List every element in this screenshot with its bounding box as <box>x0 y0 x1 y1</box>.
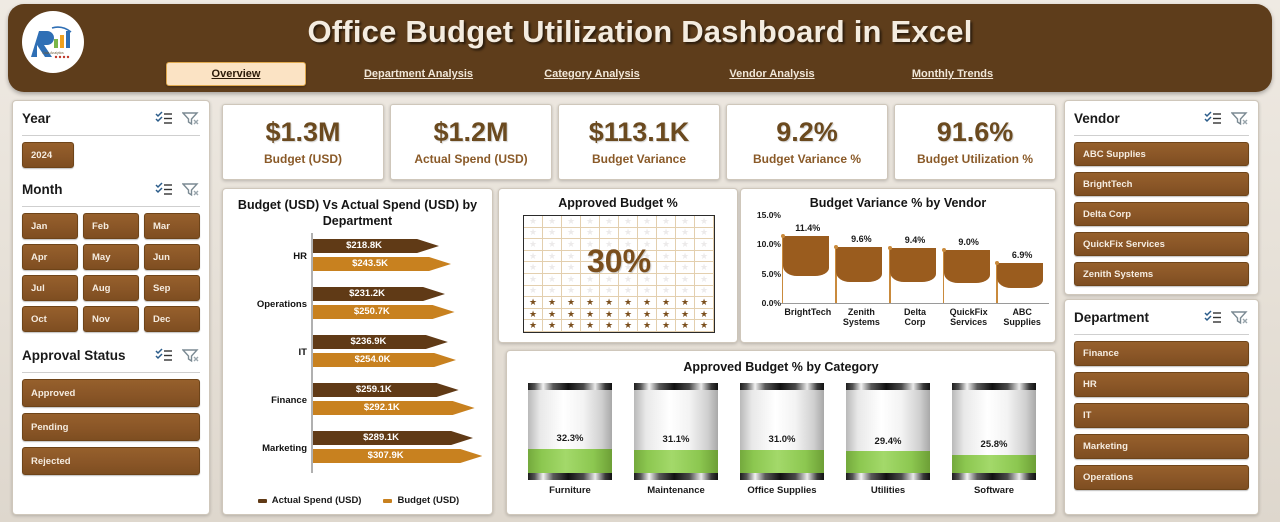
legend-label: Budget (USD) <box>397 495 459 506</box>
waffle-cell-empty: ★ <box>543 216 562 228</box>
department-axis-label: HR <box>223 251 307 262</box>
kpi-value: 91.6% <box>937 118 1014 146</box>
left-slicer-panel: Year <box>12 100 210 515</box>
vendor-variance-chart: Budget Variance % by Vendor 11.4%9.6%9.4… <box>740 188 1056 343</box>
waffle-grid: ★★★★★★★★★★★★★★★★★★★★★★★★★★★★★★★★★★★★★★★★… <box>523 215 715 333</box>
category-cylinder: 31.0% <box>740 383 824 480</box>
category-cylinder-cap-top <box>846 383 930 390</box>
slicer-approval-status-title: Approval Status <box>22 348 126 363</box>
slicer-item-vendor-zenith-systems[interactable]: Zenith Systems <box>1074 262 1249 286</box>
slicer-item-month-dec[interactable]: Dec <box>144 306 200 332</box>
kpi-card-actual-spend: $1.2M Actual Spend (USD) <box>390 104 552 180</box>
slicer-item-month-mar[interactable]: Mar <box>144 213 200 239</box>
kpi-card-budget-variance-pct: 9.2% Budget Variance % <box>726 104 888 180</box>
tab-category-analysis[interactable]: Category Analysis <box>533 62 651 86</box>
waffle-cell-empty: ★ <box>695 251 714 263</box>
slicer-divider <box>1074 334 1249 335</box>
waffle-cell-empty: ★ <box>638 286 657 298</box>
kpi-label: Actual Spend (USD) <box>414 152 527 166</box>
vendor-flag-shape <box>890 248 936 282</box>
category-x-tick-label: Furniture <box>549 485 591 496</box>
waffle-cell-empty: ★ <box>657 228 676 240</box>
vendor-bar <box>889 215 941 303</box>
slicer-vendor: Vendor <box>1064 100 1259 295</box>
clear-filter-icon[interactable] <box>182 182 200 202</box>
waffle-cell-empty: ★ <box>524 239 543 251</box>
vendor-flag-knob-icon <box>888 246 892 250</box>
tab-department-analysis[interactable]: Department Analysis <box>356 62 481 86</box>
category-cylinder: 25.8% <box>952 383 1036 480</box>
category-bar: 25.8%Software <box>941 383 1047 508</box>
waffle-cell-filled: ★ <box>581 297 600 309</box>
category-bar-value: 32.3% <box>528 433 612 444</box>
vendor-bar-value: 6.9% <box>996 250 1048 260</box>
department-bar-value: $231.2K <box>311 288 423 299</box>
waffle-cell-filled: ★ <box>619 297 638 309</box>
category-bar: 29.4%Utilities <box>835 383 941 508</box>
vendor-bar-value: 9.4% <box>889 235 941 245</box>
department-axis-label: IT <box>223 347 307 358</box>
waffle-cell-empty: ★ <box>657 262 676 274</box>
waffle-cell-filled: ★ <box>695 320 714 332</box>
vendor-bar-value: 9.6% <box>835 234 887 244</box>
waffle-cell-empty: ★ <box>676 239 695 251</box>
waffle-cell-filled: ★ <box>524 309 543 321</box>
vendor-bar <box>943 215 995 303</box>
vendor-bar-value: 11.4% <box>782 223 834 233</box>
department-bar-value: $218.8K <box>311 240 417 251</box>
slicer-item-department-operations[interactable]: Operations <box>1074 465 1249 490</box>
category-approved-budget: Approved Budget % by Category 32.3%Furni… <box>506 350 1056 515</box>
slicer-approval-status: Approval Status <box>13 332 209 475</box>
waffle-cell-empty: ★ <box>695 239 714 251</box>
category-x-tick-label: Office Supplies <box>747 485 816 496</box>
department-bar-chart: Budget (USD) Vs Actual Spend (USD) by De… <box>222 188 493 515</box>
chart-legend: Actual Spend (USD) Budget (USD) <box>223 495 494 506</box>
waffle-cell-filled: ★ <box>619 309 638 321</box>
department-bar-value: $259.1K <box>311 384 437 395</box>
department-chart-plot: HR$218.8K$243.5KOperations$231.2K$250.7K… <box>223 233 494 473</box>
category-bar: 32.3%Furniture <box>517 383 623 508</box>
slicer-item-month-may[interactable]: May <box>83 244 139 270</box>
chart-title: Approved Budget % <box>499 189 737 212</box>
main-navigation: Overview Department Analysis Category An… <box>148 62 1108 86</box>
slicer-item-month-apr[interactable]: Apr <box>22 244 78 270</box>
slicer-item-month-jun[interactable]: Jun <box>144 244 200 270</box>
waffle-cell-empty: ★ <box>562 251 581 263</box>
waffle-cell-empty: ★ <box>543 251 562 263</box>
chart-title: Budget (USD) Vs Actual Spend (USD) by De… <box>223 189 492 229</box>
category-x-tick-label: Utilities <box>871 485 905 496</box>
waffle-cell-empty: ★ <box>581 274 600 286</box>
tab-overview[interactable]: Overview <box>166 62 306 86</box>
slicer-item-month-aug[interactable]: Aug <box>83 275 139 301</box>
kpi-label: Budget Utilization % <box>917 152 1033 166</box>
category-cylinder-cap-top <box>952 383 1036 390</box>
clear-filter-icon[interactable] <box>1231 111 1249 131</box>
waffle-cell-filled: ★ <box>676 297 695 309</box>
slicer-item-vendor-brighttech[interactable]: BrightTech <box>1074 172 1249 196</box>
waffle-cell-empty: ★ <box>600 262 619 274</box>
slicer-vendor-title: Vendor <box>1074 111 1120 126</box>
waffle-cell-empty: ★ <box>657 274 676 286</box>
dashboard-root: Data Analytics Office Budget Utilization… <box>0 0 1280 522</box>
waffle-cell-filled: ★ <box>543 320 562 332</box>
kpi-value: $1.3M <box>265 118 340 146</box>
waffle-cell-empty: ★ <box>657 216 676 228</box>
waffle-cell-empty: ★ <box>638 251 657 263</box>
vendor-flag-shape <box>997 263 1043 288</box>
slicer-item-month-jul[interactable]: Jul <box>22 275 78 301</box>
slicer-department-items: Finance HR IT Marketing Operations <box>1065 341 1258 490</box>
slicer-item-month-sep[interactable]: Sep <box>144 275 200 301</box>
vendor-chart-plot: 11.4%9.6%9.4%9.0%6.9% <box>781 215 1049 303</box>
waffle-cell-empty: ★ <box>524 228 543 240</box>
waffle-cell-empty: ★ <box>619 228 638 240</box>
waffle-cell-empty: ★ <box>581 228 600 240</box>
slicer-divider <box>22 206 200 207</box>
waffle-cell-empty: ★ <box>524 274 543 286</box>
waffle-cell-empty: ★ <box>562 228 581 240</box>
slicer-department-title: Department <box>1074 310 1149 325</box>
waffle-cell-filled: ★ <box>657 320 676 332</box>
vendor-y-tick-label: 10.0% <box>743 239 781 249</box>
slicer-item-department-it[interactable]: IT <box>1074 403 1249 428</box>
vendor-x-tick-label: ABCSupplies <box>994 307 1050 328</box>
waffle-cell-empty: ★ <box>524 286 543 298</box>
department-bar-value: $292.1K <box>311 402 453 413</box>
clear-filter-icon[interactable] <box>1231 310 1249 330</box>
waffle-cell-empty: ★ <box>676 216 695 228</box>
vendor-flag-shape <box>836 247 882 282</box>
slicer-divider <box>22 372 200 373</box>
slicer-vendor-items: ABC Supplies BrightTech Delta Corp Quick… <box>1065 142 1258 286</box>
vendor-y-tick-label: 15.0% <box>743 210 781 220</box>
waffle-cell-empty: ★ <box>657 251 676 263</box>
category-bar-value: 31.1% <box>634 434 718 445</box>
waffle-cell-filled: ★ <box>562 320 581 332</box>
vendor-flag-knob-icon <box>995 261 999 265</box>
department-bar-value: $236.9K <box>311 336 426 347</box>
slicer-divider <box>22 135 200 136</box>
slicer-month-title: Month <box>22 182 62 197</box>
clear-filter-icon[interactable] <box>182 348 200 368</box>
tab-vendor-analysis[interactable]: Vendor Analysis <box>718 62 826 86</box>
kpi-label: Budget Variance <box>592 152 686 166</box>
chart-title: Budget Variance % by Vendor <box>741 189 1055 212</box>
waffle-cell-filled: ★ <box>676 309 695 321</box>
waffle-cell-empty: ★ <box>600 251 619 263</box>
waffle-cell-empty: ★ <box>524 251 543 263</box>
waffle-cell-empty: ★ <box>619 251 638 263</box>
clear-filter-icon[interactable] <box>182 111 200 131</box>
category-bar-value: 31.0% <box>740 434 824 445</box>
waffle-cell-filled: ★ <box>600 320 619 332</box>
waffle-cell-filled: ★ <box>695 297 714 309</box>
slicer-item-vendor-delta-corp[interactable]: Delta Corp <box>1074 202 1249 226</box>
waffle-cell-empty: ★ <box>600 286 619 298</box>
waffle-cell-empty: ★ <box>543 262 562 274</box>
waffle-cell-empty: ★ <box>619 274 638 286</box>
waffle-cell-empty: ★ <box>695 262 714 274</box>
vendor-x-tick-label: ZenithSystems <box>833 307 889 328</box>
waffle-cell-empty: ★ <box>600 228 619 240</box>
department-bar-value: $254.0K <box>311 354 434 365</box>
slicer-item-status-approved[interactable]: Approved <box>22 379 200 407</box>
slicer-item-status-pending[interactable]: Pending <box>22 413 200 441</box>
waffle-cell-empty: ★ <box>619 239 638 251</box>
slicer-item-vendor-quickfix-services[interactable]: QuickFix Services <box>1074 232 1249 256</box>
waffle-cell-filled: ★ <box>524 320 543 332</box>
waffle-cell-empty: ★ <box>581 251 600 263</box>
category-bar-value: 25.8% <box>952 439 1036 450</box>
waffle-cell-filled: ★ <box>581 320 600 332</box>
waffle-cell-empty: ★ <box>581 216 600 228</box>
waffle-cell-filled: ★ <box>600 297 619 309</box>
department-axis-label: Operations <box>223 299 307 310</box>
waffle-cell-empty: ★ <box>581 239 600 251</box>
waffle-cell-empty: ★ <box>562 216 581 228</box>
slicer-department: Department <box>1064 299 1259 515</box>
slicer-item-department-marketing[interactable]: Marketing <box>1074 434 1249 459</box>
slicer-item-month-feb[interactable]: Feb <box>83 213 139 239</box>
vendor-flag-knob-icon <box>781 234 785 238</box>
vendor-flag-shape <box>944 250 990 283</box>
page-title: Office Budget Utilization Dashboard in E… <box>8 14 1272 50</box>
waffle-cell-empty: ★ <box>695 286 714 298</box>
waffle-cell-empty: ★ <box>619 286 638 298</box>
slicer-item-month-jan[interactable]: Jan <box>22 213 78 239</box>
vendor-bar-value: 9.0% <box>943 237 995 247</box>
legend-label: Actual Spend (USD) <box>272 495 362 506</box>
waffle-cell-empty: ★ <box>676 274 695 286</box>
slicer-item-year-2024[interactable]: 2024 <box>22 142 74 168</box>
waffle-cell-filled: ★ <box>638 320 657 332</box>
slicer-year: Year <box>13 101 209 168</box>
waffle-cell-filled: ★ <box>562 297 581 309</box>
slicer-month-items: Jan Feb Mar Apr May Jun Jul Aug Sep Oct … <box>13 213 209 332</box>
legend-swatch-icon <box>383 499 392 503</box>
waffle-cell-empty: ★ <box>562 274 581 286</box>
chart-title: Approved Budget % by Category <box>507 351 1055 376</box>
waffle-cell-empty: ★ <box>657 286 676 298</box>
slicer-item-vendor-abc-supplies[interactable]: ABC Supplies <box>1074 142 1249 166</box>
approved-budget-waffle: Approved Budget % ★★★★★★★★★★★★★★★★★★★★★★… <box>498 188 738 343</box>
department-bar-value: $307.9K <box>311 450 460 461</box>
slicer-year-title: Year <box>22 111 51 126</box>
category-cylinder: 32.3% <box>528 383 612 480</box>
department-value-axis <box>311 233 313 473</box>
slicer-item-month-oct[interactable]: Oct <box>22 306 78 332</box>
waffle-cell-empty: ★ <box>676 228 695 240</box>
waffle-cell-filled: ★ <box>619 320 638 332</box>
department-bar-value: $243.5K <box>311 258 429 269</box>
waffle-cell-empty: ★ <box>543 228 562 240</box>
kpi-card-budget-utilization-pct: 91.6% Budget Utilization % <box>894 104 1056 180</box>
waffle-cell-empty: ★ <box>600 239 619 251</box>
kpi-value: $1.2M <box>433 118 508 146</box>
slicer-divider <box>1074 135 1249 136</box>
waffle-cell-filled: ★ <box>638 297 657 309</box>
waffle-cell-empty: ★ <box>638 262 657 274</box>
waffle-cell-empty: ★ <box>657 239 676 251</box>
slicer-approval-status-items: Approved Pending Rejected <box>13 379 209 475</box>
waffle-cell-empty: ★ <box>543 286 562 298</box>
waffle-cell-empty: ★ <box>562 286 581 298</box>
waffle-cell-filled: ★ <box>638 309 657 321</box>
svg-text:Data Analytics: Data Analytics <box>42 51 64 55</box>
category-cylinder: 31.1% <box>634 383 718 480</box>
vendor-bar <box>835 215 887 303</box>
waffle-cell-empty: ★ <box>638 274 657 286</box>
tab-monthly-trends[interactable]: Monthly Trends <box>900 62 1005 86</box>
kpi-card-budget: $1.3M Budget (USD) <box>222 104 384 180</box>
waffle-cell-filled: ★ <box>562 309 581 321</box>
category-cylinder-cap-top <box>528 383 612 390</box>
waffle-cell-empty: ★ <box>676 251 695 263</box>
waffle-cell-filled: ★ <box>524 297 543 309</box>
category-chart-plot: 32.3%Furniture31.1%Maintenance31.0%Offic… <box>517 383 1047 508</box>
waffle-cell-empty: ★ <box>524 262 543 274</box>
vendor-flag-knob-icon <box>942 248 946 252</box>
slicer-item-status-rejected[interactable]: Rejected <box>22 447 200 475</box>
category-x-tick-label: Software <box>974 485 1014 496</box>
waffle-cell-empty: ★ <box>695 216 714 228</box>
waffle-cell-filled: ★ <box>657 309 676 321</box>
waffle-cell-empty: ★ <box>600 274 619 286</box>
kpi-label: Budget Variance % <box>753 152 861 166</box>
category-cylinder-cap-top <box>634 383 718 390</box>
waffle-cell-empty: ★ <box>676 286 695 298</box>
waffle-cell-filled: ★ <box>600 309 619 321</box>
kpi-card-budget-variance: $113.1K Budget Variance <box>558 104 720 180</box>
vendor-axis-line <box>781 303 1049 304</box>
multi-select-icon[interactable] <box>1204 111 1222 131</box>
waffle-cell-empty: ★ <box>638 216 657 228</box>
department-axis-label: Finance <box>223 395 307 406</box>
kpi-value: 9.2% <box>776 118 838 146</box>
slicer-item-department-hr[interactable]: HR <box>1074 372 1249 397</box>
waffle-cell-empty: ★ <box>581 262 600 274</box>
category-cylinder-cap-bottom <box>634 473 718 480</box>
kpi-label: Budget (USD) <box>264 152 342 166</box>
dashboard-header: Data Analytics Office Budget Utilization… <box>8 4 1272 92</box>
department-bar-value: $289.1K <box>311 432 451 443</box>
waffle-cell-filled: ★ <box>543 309 562 321</box>
multi-select-icon[interactable] <box>155 348 173 368</box>
category-bar: 31.1%Maintenance <box>623 383 729 508</box>
waffle-cell-filled: ★ <box>543 297 562 309</box>
category-bar-value: 29.4% <box>846 436 930 447</box>
category-cylinder-cap-top <box>740 383 824 390</box>
vendor-x-tick-label: DeltaCorp <box>887 307 943 328</box>
waffle-cell-empty: ★ <box>619 262 638 274</box>
multi-select-icon[interactable] <box>1204 310 1222 330</box>
department-bar-value: $250.7K <box>311 306 433 317</box>
category-cylinder-cap-bottom <box>952 473 1036 480</box>
category-cylinder-cap-bottom <box>528 473 612 480</box>
category-cylinder-cap-bottom <box>740 473 824 480</box>
vendor-y-tick-label: 0.0% <box>743 298 781 308</box>
department-axis-label: Marketing <box>223 443 307 454</box>
waffle-cell-filled: ★ <box>581 309 600 321</box>
waffle-cell-empty: ★ <box>562 262 581 274</box>
waffle-cell-empty: ★ <box>638 239 657 251</box>
category-cylinder: 29.4% <box>846 383 930 480</box>
slicer-item-month-nov[interactable]: Nov <box>83 306 139 332</box>
waffle-cell-empty: ★ <box>562 239 581 251</box>
waffle-cell-empty: ★ <box>600 216 619 228</box>
vendor-x-tick-label: BrightTech <box>780 307 836 317</box>
vendor-flag-shape <box>783 236 829 276</box>
waffle-cell-empty: ★ <box>695 228 714 240</box>
category-bar: 31.0%Office Supplies <box>729 383 835 508</box>
waffle-cell-empty: ★ <box>619 216 638 228</box>
waffle-cell-filled: ★ <box>695 309 714 321</box>
slicer-item-department-finance[interactable]: Finance <box>1074 341 1249 366</box>
waffle-cell-empty: ★ <box>543 239 562 251</box>
legend-item-budget[interactable]: Budget (USD) <box>383 495 459 506</box>
waffle-cell-filled: ★ <box>657 297 676 309</box>
multi-select-icon[interactable] <box>155 182 173 202</box>
category-cylinder-cap-bottom <box>846 473 930 480</box>
category-x-tick-label: Maintenance <box>647 485 705 496</box>
waffle-cell-empty: ★ <box>581 286 600 298</box>
slicer-month: Month <box>13 168 209 332</box>
kpi-value: $113.1K <box>589 118 690 146</box>
multi-select-icon[interactable] <box>155 111 173 131</box>
legend-swatch-icon <box>258 499 267 503</box>
waffle-cell-empty: ★ <box>524 216 543 228</box>
vendor-y-tick-label: 5.0% <box>743 269 781 279</box>
waffle-cell-filled: ★ <box>676 320 695 332</box>
legend-item-actual-spend[interactable]: Actual Spend (USD) <box>258 495 362 506</box>
waffle-cell-empty: ★ <box>676 262 695 274</box>
vendor-x-tick-label: QuickFixServices <box>941 307 997 328</box>
waffle-cell-empty: ★ <box>695 274 714 286</box>
waffle-cell-empty: ★ <box>543 274 562 286</box>
waffle-cell-empty: ★ <box>638 228 657 240</box>
